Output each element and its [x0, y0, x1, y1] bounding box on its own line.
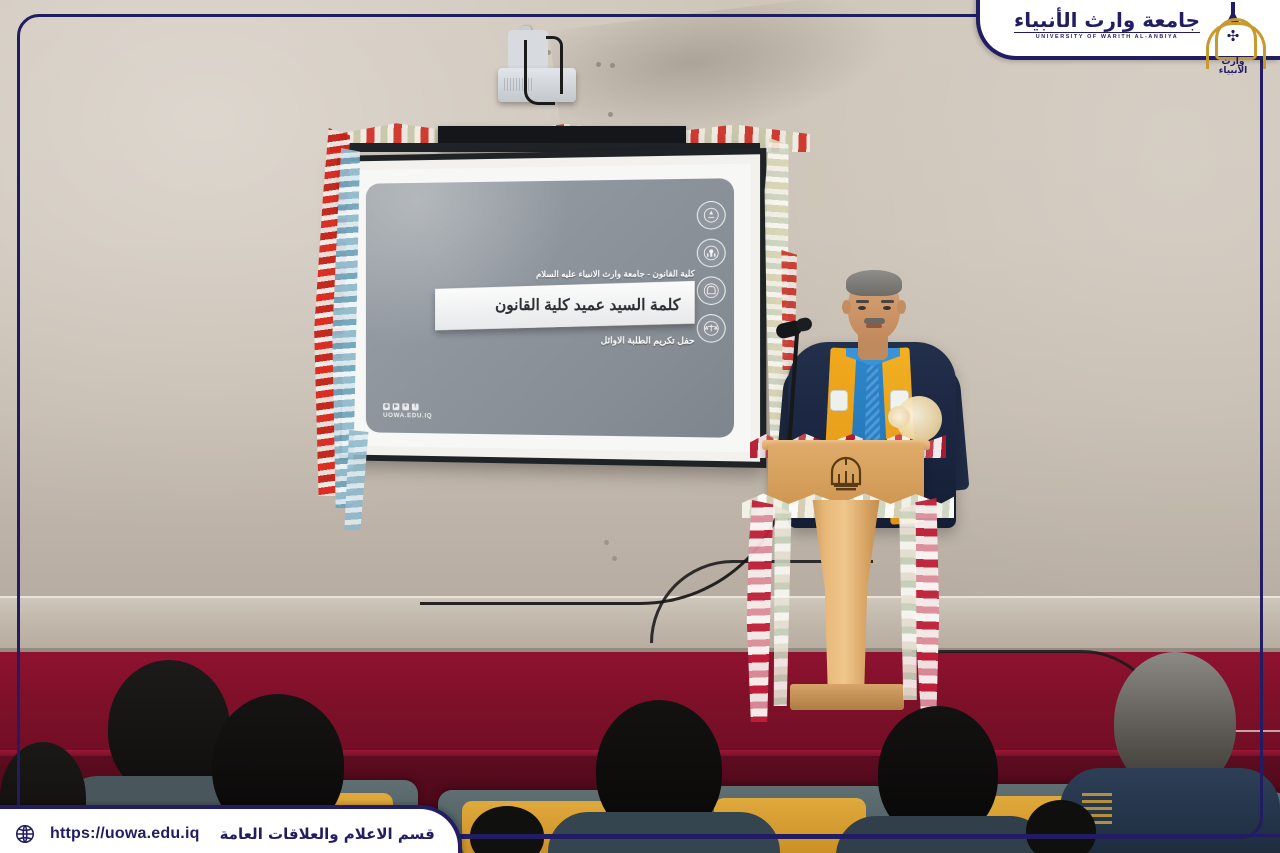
- slide-subtitle: حفل تكريم الطلبة الاوائل: [435, 335, 695, 347]
- instagram-icon: ◉: [383, 403, 390, 410]
- crest-name-arabic: وارث الأنبياء: [1210, 58, 1256, 76]
- scales-of-justice-logo: [697, 314, 726, 343]
- eyebrow-right: [881, 300, 894, 303]
- slide-title: كلمة السيد عميد كلية القانون: [449, 296, 681, 315]
- projection-screen: كلية القانون - جامعة وارث الانبياء عليه …: [336, 148, 766, 468]
- eyebrow-left: [856, 300, 869, 303]
- wall-screw-mark: [596, 62, 601, 67]
- eye-left: [858, 306, 866, 310]
- university-name-english: UNIVERSITY OF WARITH AL-ANBIYA: [1014, 32, 1200, 40]
- facebook-icon: f: [412, 403, 419, 410]
- slide-site-url: UOWA.EDU.IQ: [383, 412, 432, 420]
- projector-cable: [546, 36, 563, 94]
- university-wordmark: جامعة وارث الأنبياء UNIVERSITY OF WARITH…: [1014, 10, 1200, 40]
- audience-shoulders: [548, 812, 780, 853]
- university-name-arabic: جامعة وارث الأنبياء: [1014, 10, 1200, 30]
- flower-bouquet: [896, 396, 942, 442]
- wall-screw-mark: [608, 112, 613, 117]
- slide-header: كلية القانون - جامعة وارث الانبياء عليه …: [435, 268, 695, 280]
- university-crest-icon: ✣ وارث الأنبياء: [1202, 2, 1264, 78]
- telegram-icon: ✈: [402, 403, 409, 410]
- speaker-hair: [846, 270, 902, 296]
- slide-footer: ◉ ▶ ✈ f UOWA.EDU.IQ: [383, 403, 432, 419]
- slide-logo-column: [697, 201, 726, 343]
- robe-badge-left: [830, 390, 848, 411]
- footer-rule: [420, 834, 1280, 837]
- event-photograph: كلية القانون - جامعة وارث الانبياء عليه …: [0, 0, 1280, 853]
- slide-social-icons: ◉ ▶ ✈ f: [383, 403, 432, 410]
- shrine-logo: [697, 239, 726, 268]
- department-name-arabic: قسم الاعلام والعلاقات العامة: [220, 825, 435, 843]
- presentation-slide: كلية القانون - جامعة وارث الانبياء عليه …: [366, 178, 734, 438]
- wall-screw-mark: [610, 63, 615, 68]
- website-url[interactable]: https://uowa.edu.iq: [50, 825, 200, 843]
- footer-banner: https://uowa.edu.iq قسم الاعلام والعلاقا…: [0, 805, 462, 853]
- podium-base: [790, 684, 904, 710]
- mouth: [866, 324, 882, 328]
- ear-left: [842, 300, 851, 314]
- university-seal-logo: [697, 201, 726, 230]
- youtube-icon: ▶: [393, 403, 400, 410]
- photo-banner: كلية القانون - جامعة وارث الانبياء عليه …: [0, 0, 1280, 853]
- screen-surface: كلية القانون - جامعة وارث الانبياء عليه …: [351, 164, 751, 453]
- globe-icon: [14, 823, 36, 845]
- audience-head: [1026, 800, 1096, 853]
- slide-title-plate: كلمة السيد عميد كلية القانون: [435, 281, 695, 330]
- ear-right: [897, 300, 906, 314]
- university-logo-lockup: جامعة وارث الأنبياء UNIVERSITY OF WARITH…: [980, 10, 1200, 40]
- university-emblem: [824, 452, 868, 496]
- crest-ornament: ✣: [1224, 28, 1242, 46]
- eye-right: [883, 306, 891, 310]
- mosque-logo: [697, 276, 726, 305]
- slide-text-block: كلية القانون - جامعة وارث الانبياء عليه …: [435, 268, 695, 346]
